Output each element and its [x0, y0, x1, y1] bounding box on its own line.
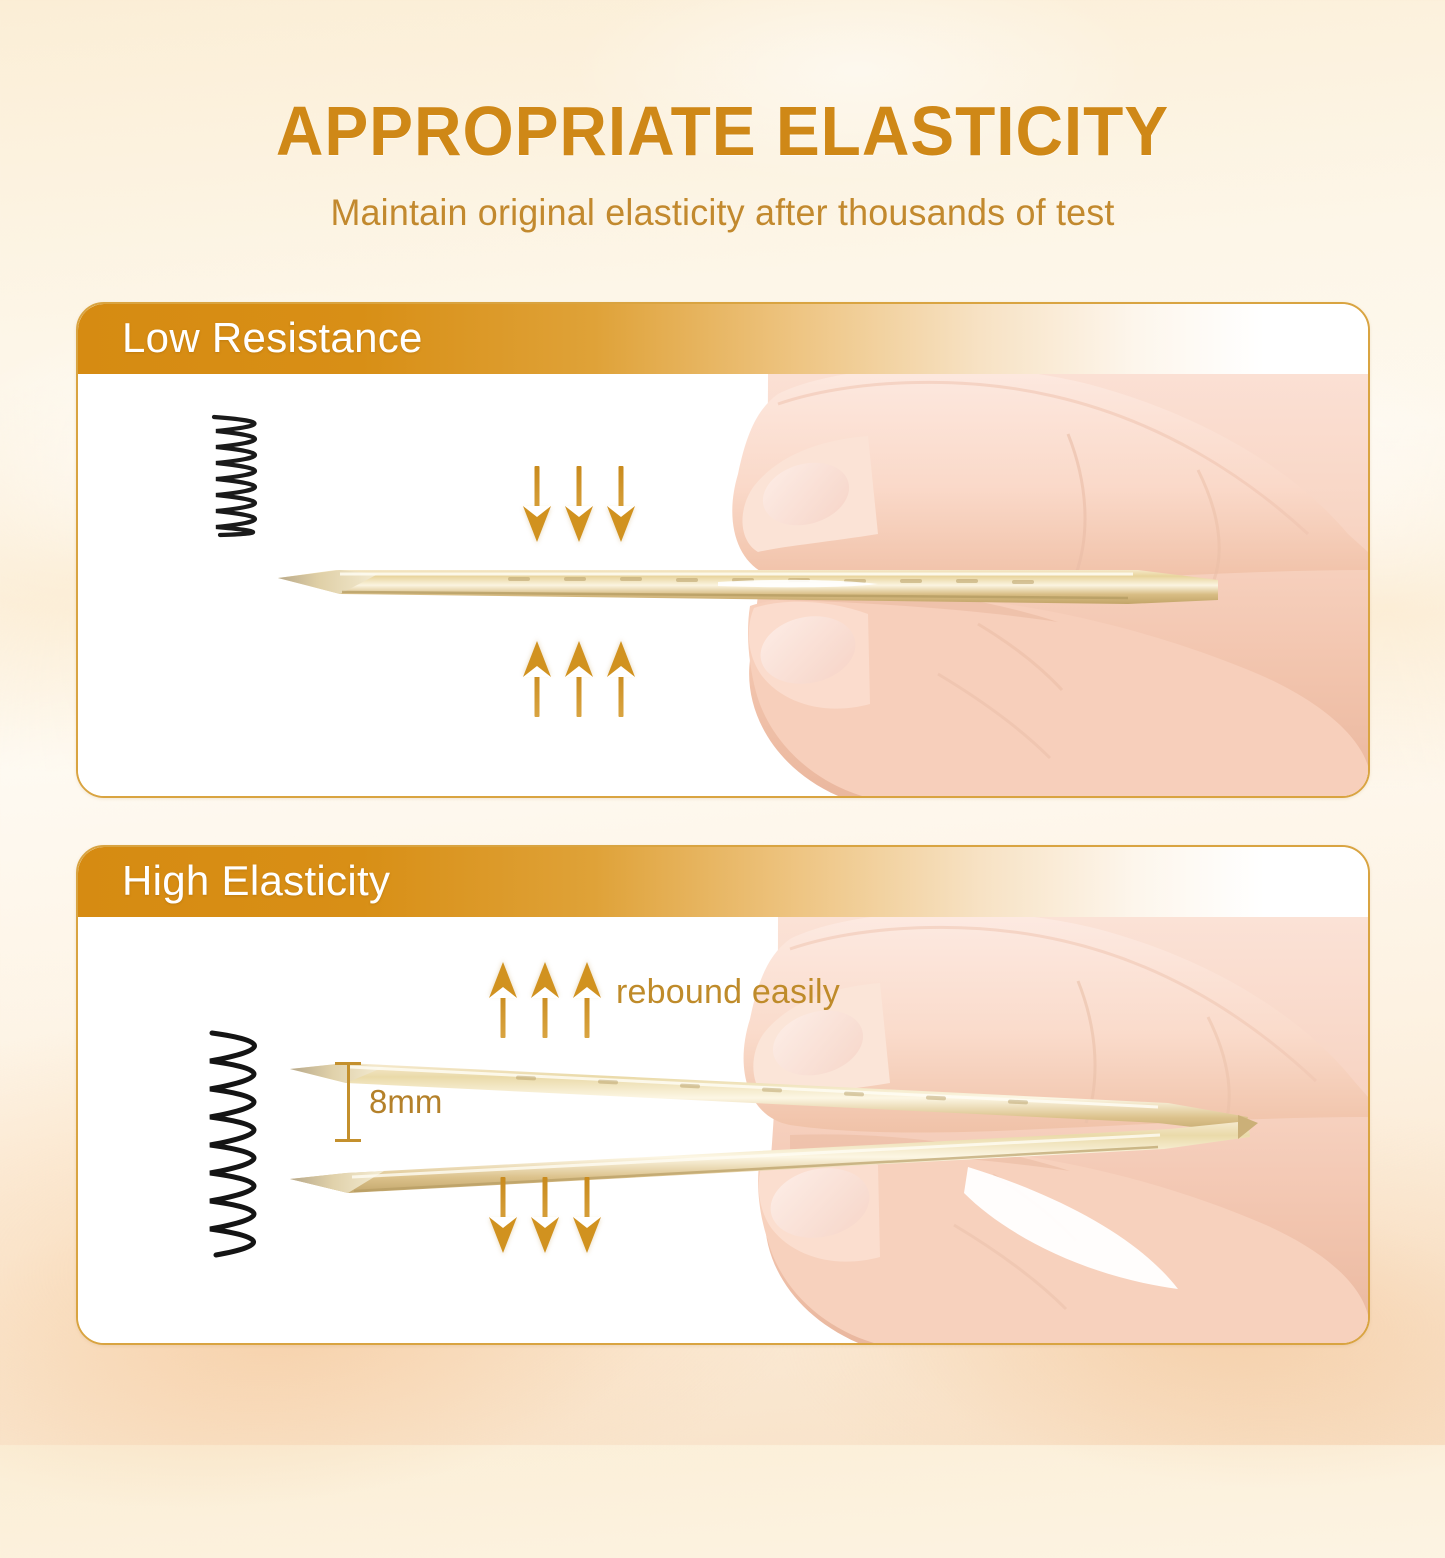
arrow-down-icon: [572, 466, 585, 554]
arrow-up-icon: [572, 629, 585, 717]
arrow-down-icon: [530, 466, 543, 554]
dimension-8mm: 8mm: [335, 1062, 455, 1142]
dimension-tick-bottom: [335, 1139, 361, 1142]
card-header-high-elasticity: High Elasticity: [78, 847, 1368, 917]
spring-compressed-icon: [198, 409, 308, 539]
arrow-up-icon: [538, 950, 551, 1038]
heading-block: APPROPRIATE ELASTICITY Maintain original…: [0, 96, 1445, 234]
arrow-up-icon: [530, 629, 543, 717]
card-header-low-resistance: Low Resistance: [78, 304, 1368, 374]
arrow-up-icon: [496, 950, 509, 1038]
tweezers-closed: [278, 570, 1218, 604]
arrow-up-icon: [580, 950, 593, 1038]
card-high-elasticity: High Elasticity: [76, 845, 1370, 1345]
arrow-down-icon: [538, 1177, 551, 1265]
arrows-up-group: [530, 629, 627, 717]
card-title-high-elasticity: High Elasticity: [122, 857, 390, 905]
arrow-up-icon: [614, 629, 627, 717]
dimension-label: 8mm: [369, 1083, 442, 1121]
rebound-annotation: rebound easily: [616, 973, 840, 1012]
card-low-resistance: Low Resistance: [76, 302, 1370, 798]
spring-extended-icon: [190, 1027, 315, 1262]
page-title: APPROPRIATE ELASTICITY: [43, 96, 1401, 166]
page-subtitle: Maintain original elasticity after thous…: [22, 192, 1424, 234]
arrows-down-group: [496, 1177, 593, 1265]
arrows-down-group: [530, 466, 627, 554]
dimension-line: [347, 1062, 350, 1142]
card-body-low-resistance: [78, 374, 1368, 796]
arrows-up-group: [496, 950, 593, 1038]
infographic-page: APPROPRIATE ELASTICITY Maintain original…: [0, 0, 1445, 1445]
arrow-down-icon: [614, 466, 627, 554]
arrow-down-icon: [496, 1177, 509, 1265]
card-title-low-resistance: Low Resistance: [122, 314, 423, 362]
arrow-down-icon: [580, 1177, 593, 1265]
card-body-high-elasticity: rebound easily 8mm: [78, 917, 1368, 1343]
